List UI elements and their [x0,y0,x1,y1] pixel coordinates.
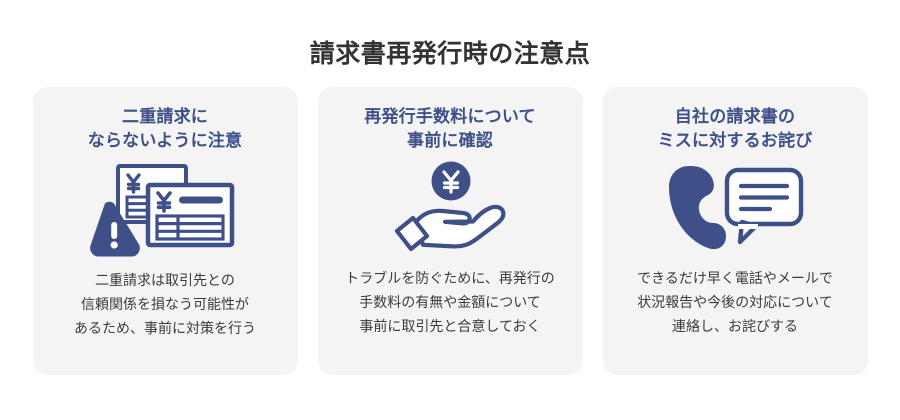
card-body: トラブルを防ぐために、再発行の 手数料の有無や金額について 事前に取引先と合意し… [345,266,555,338]
hand-holding-yen-coin-icon [385,156,515,260]
card-heading: 自社の請求書の ミスに対するお詫び [658,105,813,154]
card-body: できるだけ早く電話やメールで 状況報告や今後の対応について 連絡し、お詫びする [637,266,833,338]
card-heading: 再発行手数料について 事前に確認 [364,105,536,154]
infographic-page: 請求書再発行時の注意点 二重請求に ならないように注意 [0,17,900,420]
card-heading: 二重請求に ならないように注意 [88,105,242,154]
card-reissue-fee: 再発行手数料について 事前に確認 [318,87,583,375]
page-title: 請求書再発行時の注意点 [0,17,900,69]
card-list: 二重請求に ならないように注意 [0,87,900,375]
card-duplicate-billing: 二重請求に ならないように注意 [33,87,298,375]
card-apology: 自社の請求書の ミスに対するお詫び できるだけ早く電話やメールで 状況 [603,87,868,375]
duplicate-invoice-warning-icon [90,158,240,262]
card-body: 二重請求は取引先との 信頼関係を損なう可能性が あるため、事前に対策を行う [74,268,256,340]
phone-speech-bubble-icon [660,156,810,260]
